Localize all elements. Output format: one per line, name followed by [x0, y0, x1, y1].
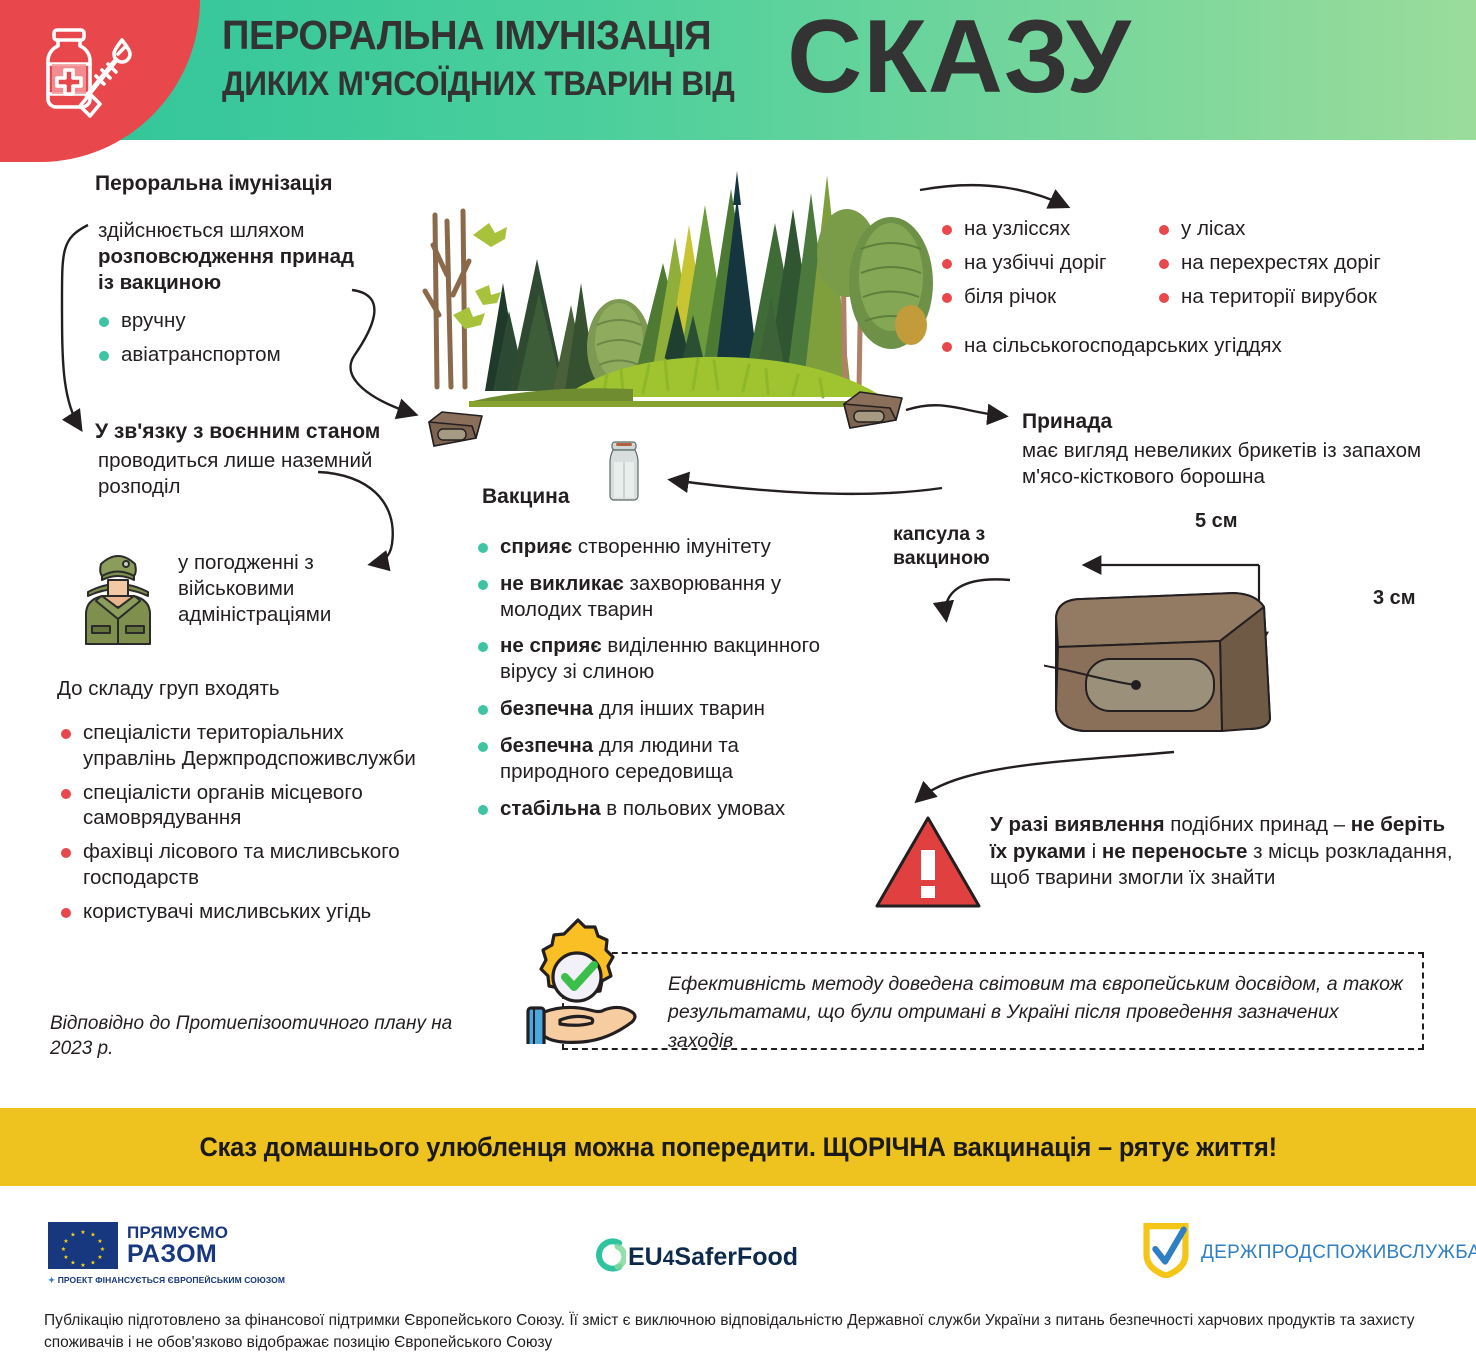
plan-footnote: Відповідно до Протиепізоотичного плану н…	[50, 1012, 470, 1061]
warn-text-2: і	[1086, 840, 1102, 863]
list-item: на сільськогосподарських угіддях	[938, 333, 1458, 359]
svg-text:★: ★	[80, 1229, 85, 1236]
bait-height-dimension: 3 см	[1373, 587, 1416, 610]
list-item: на узліссях	[938, 216, 1173, 242]
vaccine-properties-list: сприяє створенню імунітету не викликає з…	[474, 534, 834, 829]
footer-disclaimer: Публікацію підготовлено за фінансової пі…	[44, 1310, 1444, 1355]
svg-text:★: ★	[90, 1232, 95, 1239]
warn-bold-3: не переносьте	[1102, 840, 1247, 863]
intro-plain: здійснюється шляхом	[98, 219, 304, 242]
eu4saferfood-label: EU4SaferFood	[628, 1243, 798, 1272]
svg-text:★: ★	[70, 1232, 75, 1239]
eu-logo-line1: ПРЯМУЄМО	[127, 1224, 228, 1241]
bottom-banner: Сказ домашнього улюбленця можна попереди…	[0, 1108, 1476, 1186]
header-banner: ПЕРОРАЛЬНА ІМУНІЗАЦІЯ ДИКИХ М'ЯСОЇДНИХ Т…	[0, 0, 1476, 140]
svg-text:★: ★	[97, 1238, 102, 1245]
svg-text:★: ★	[90, 1260, 95, 1267]
list-item: сприяє створенню імунітету	[474, 534, 834, 560]
capsule-label: капсула з вакциною	[893, 522, 1023, 570]
groups-heading: До складу груп входять	[57, 676, 280, 702]
header-title-big: СКАЗУ	[787, 8, 1132, 107]
oral-immunization-intro: здійснюється шляхом розповсюдження прина…	[98, 218, 358, 295]
dpss-label: ДЕРЖПРОДСПОЖИВСЛУЖБА	[1201, 1242, 1476, 1264]
esf-b: 4	[663, 1247, 675, 1270]
list-item: авіатранспортом	[95, 342, 345, 368]
svg-text:★: ★	[100, 1246, 105, 1253]
svg-text:★: ★	[97, 1254, 102, 1261]
eu-logo-sub-label: ПРОЕКТ ФІНАНСУЄТЬСЯ ЄВРОПЕЙСЬКИМ СОЮЗОМ	[58, 1275, 285, 1285]
svg-text:★: ★	[70, 1260, 75, 1267]
svg-text:★: ★	[63, 1254, 68, 1261]
locations-column-a: на узліссях на узбіччі доріг біля річок	[938, 216, 1173, 317]
header-title-group: ПЕРОРАЛЬНА ІМУНІЗАЦІЯ ДИКИХ М'ЯСОЇДНИХ Т…	[222, 14, 1132, 107]
vaccine-vial-icon	[600, 440, 648, 502]
warning-text: У разі виявлення подібних принад – не бе…	[990, 812, 1460, 892]
vaccine-bottle-syringe-icon	[34, 18, 134, 123]
bait-width-dimension: 5 см	[1195, 510, 1238, 533]
hand-gear-check-icon	[522, 916, 642, 1044]
eu-logo-subtext: ✦ ПРОЕКТ ФІНАНСУЄТЬСЯ ЄВРОПЕЙСЬКИМ СОЮЗО…	[48, 1275, 285, 1286]
list-item: на узбіччі доріг	[938, 250, 1173, 276]
warn-text-1: подібних принад –	[1165, 813, 1351, 836]
warn-bold-1: У разі виявлення	[990, 813, 1165, 836]
effectiveness-text: Ефективність методу доведена світовим та…	[668, 970, 1408, 1055]
list-item: користувачі мисливських угідь	[57, 899, 417, 925]
bait-briquette-icon	[840, 388, 906, 432]
item-bold: не сприяє	[500, 634, 602, 657]
vaccine-title: Вакцина	[482, 485, 570, 509]
logo-eu-pryamuyemo-razom: ★ ★ ★ ★ ★ ★ ★ ★ ★ ★ ★ ★ ПРЯМУЄМО РАЗОМ	[48, 1222, 285, 1286]
warning-triangle-icon	[873, 812, 983, 912]
item-rest: в польових умовах	[601, 797, 786, 820]
svg-text:★: ★	[63, 1238, 68, 1245]
list-item: вручну	[95, 308, 345, 334]
esf-a: EU	[628, 1243, 663, 1271]
bait-title: Принада	[1022, 410, 1112, 434]
oral-immunization-title: Пероральна імунізація	[95, 172, 333, 196]
header-title-line1: ПЕРОРАЛЬНА ІМУНІЗАЦІЯ	[222, 14, 735, 58]
shield-check-icon	[1143, 1222, 1189, 1283]
locations-wide: на сільськогосподарських угіддях	[938, 333, 1458, 367]
eu-flag-icon: ★ ★ ★ ★ ★ ★ ★ ★ ★ ★ ★ ★	[48, 1222, 118, 1269]
list-item: спеціалісти органів місцевого самоврядув…	[57, 780, 417, 832]
list-item: безпечна для інших тварин	[474, 696, 834, 722]
item-bold: стабільна	[500, 797, 601, 820]
list-item: фахівці лісового та мисливського господа…	[57, 839, 417, 891]
bait-description: має вигляд невеликих брикетів із запахом…	[1022, 438, 1462, 490]
martial-law-title: У зв'язку з воєнним станом	[95, 420, 425, 444]
locations-column-b: у лісах на перехрестях доріг на територі…	[1155, 216, 1465, 317]
martial-law-body: проводиться лише наземний розподіл	[98, 448, 378, 500]
distribution-methods-list: вручну авіатранспортом	[95, 308, 345, 376]
list-item: стабільна в польових умовах	[474, 796, 834, 822]
groups-list: спеціалісти територіальних управлінь Дер…	[57, 720, 417, 933]
list-item: на території вирубок	[1155, 284, 1465, 310]
bait-brick-3d-illustration	[1044, 555, 1364, 755]
esf-c: SaferFood	[674, 1243, 798, 1271]
item-bold: безпечна	[500, 697, 593, 720]
eu-logo-line2: РАЗОМ	[127, 1241, 228, 1267]
list-item: на перехрестях доріг	[1155, 250, 1465, 276]
logo-eu4saferfood: EU4SaferFood	[592, 1234, 798, 1281]
item-bold: не викликає	[500, 572, 624, 595]
eu4saferfood-swirl-icon	[592, 1234, 626, 1281]
list-item: у лісах	[1155, 216, 1465, 242]
intro-bold: розповсюдження принад із вакциною	[98, 245, 354, 294]
list-item: не сприяє виділенню вакцинного вірусу зі…	[474, 633, 834, 685]
list-item: не викликає захворювання у молодих твари…	[474, 571, 834, 623]
list-item: біля річок	[938, 284, 1173, 310]
item-bold: сприяє	[500, 535, 572, 558]
item-bold: безпечна	[500, 734, 593, 757]
list-item: безпечна для людини та природного середо…	[474, 733, 834, 785]
item-rest: створенню імунітету	[572, 535, 771, 558]
svg-text:★: ★	[80, 1262, 85, 1269]
banner-text: Сказ домашнього улюбленця можна попереди…	[199, 1132, 1276, 1163]
svg-text:★: ★	[61, 1246, 66, 1253]
header-title-line2: ДИКИХ М'ЯСОЇДНИХ ТВАРИН ВІД	[222, 66, 735, 103]
list-item: спеціалісти територіальних управлінь Дер…	[57, 720, 417, 772]
military-admin-text: у погодженні з військовими адміністрація…	[178, 550, 378, 627]
logo-derzhprodspozhyvsluzhba: ДЕРЖПРОДСПОЖИВСЛУЖБА	[1143, 1222, 1476, 1283]
bait-briquette-icon	[424, 408, 486, 450]
item-rest: для інших тварин	[593, 697, 765, 720]
soldier-avatar-icon	[68, 540, 168, 645]
